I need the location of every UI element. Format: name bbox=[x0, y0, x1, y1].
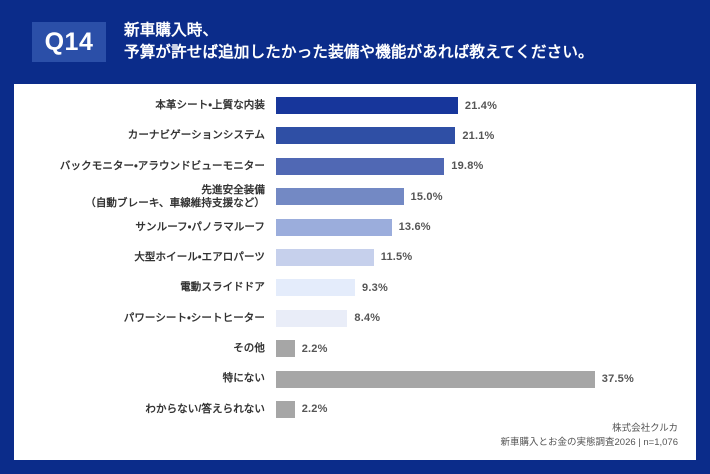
bar bbox=[276, 127, 455, 144]
bar-value-label: 8.4% bbox=[354, 312, 380, 324]
chart-row: カーナビゲーションシステム21.1% bbox=[14, 122, 696, 149]
category-label-line-1: 電動スライドドア bbox=[180, 281, 265, 293]
bar-track: 37.5% bbox=[276, 366, 696, 393]
category-label-line-1: カーナビゲーションシステム bbox=[128, 129, 265, 141]
footer-company: 株式会社クルカ bbox=[501, 422, 679, 436]
category-label: カーナビゲーションシステム bbox=[14, 129, 276, 142]
bar-value-label: 2.2% bbox=[302, 343, 328, 355]
category-label: 電動スライドドア bbox=[14, 281, 276, 294]
bar-value-label: 11.5% bbox=[381, 251, 413, 263]
category-label-line-1: 先進安全装備 bbox=[201, 184, 265, 196]
chart-row: 特にない37.5% bbox=[14, 366, 696, 393]
bar-track: 21.1% bbox=[276, 122, 696, 149]
bar bbox=[276, 188, 404, 205]
bar-value-label: 21.1% bbox=[462, 130, 494, 142]
chart-row: 大型ホイール・エアロパーツ11.5% bbox=[14, 244, 696, 271]
category-label-line-1: 大型ホイール・エアロパーツ bbox=[134, 251, 265, 263]
page-title: 新車購入時、 予算が許せば追加したかった装備や機能があれば教えてください。 bbox=[124, 20, 594, 65]
category-label: 先進安全装備（自動ブレーキ、車線維持支援など） bbox=[14, 184, 276, 210]
category-label-line-1: 特にない bbox=[223, 372, 265, 384]
category-label-line-1: 本革シート・上質な内装 bbox=[155, 99, 265, 111]
bar-value-label: 21.4% bbox=[465, 100, 497, 112]
chart-row: 本革シート・上質な内装21.4% bbox=[14, 92, 696, 119]
slide-root: Q14 新車購入時、 予算が許せば追加したかった装備や機能があれば教えてください… bbox=[0, 0, 710, 474]
bar bbox=[276, 219, 392, 236]
chart-footer: 株式会社クルカ 新車購入とお金の実態調査2026 | n=1,076 bbox=[501, 422, 679, 451]
bar bbox=[276, 97, 458, 114]
bar-value-label: 19.8% bbox=[451, 160, 483, 172]
bar bbox=[276, 249, 374, 266]
bar bbox=[276, 401, 295, 418]
chart-row: サンルーフ・パノラマルーフ13.6% bbox=[14, 214, 696, 241]
category-label-line-1: サンルーフ・パノラマルーフ bbox=[135, 221, 265, 233]
page-title-line-2: 予算が許せば追加したかった装備や機能があれば教えてください。 bbox=[124, 42, 594, 64]
bar bbox=[276, 310, 347, 327]
chart-row: 電動スライドドア9.3% bbox=[14, 274, 696, 301]
page-title-line-1: 新車購入時、 bbox=[124, 20, 594, 42]
slide-header: Q14 新車購入時、 予算が許せば追加したかった装備や機能があれば教えてください… bbox=[0, 0, 710, 84]
bar-track: 2.2% bbox=[276, 335, 696, 362]
chart-row: わからない/答えられない2.2% bbox=[14, 396, 696, 423]
category-label: 大型ホイール・エアロパーツ bbox=[14, 251, 276, 264]
category-label: わからない/答えられない bbox=[14, 403, 276, 416]
bar-track: 2.2% bbox=[276, 396, 696, 423]
category-label: サンルーフ・パノラマルーフ bbox=[14, 221, 276, 234]
category-label: 特にない bbox=[14, 372, 276, 385]
category-label: 本革シート・上質な内装 bbox=[14, 99, 276, 112]
category-label: パワーシート・シートヒーター bbox=[14, 312, 276, 325]
bar-track: 9.3% bbox=[276, 274, 696, 301]
bar-value-label: 13.6% bbox=[399, 221, 431, 233]
bar bbox=[276, 158, 444, 175]
category-label-line-1: バックモニター・アラウンドビューモニター bbox=[60, 160, 265, 172]
bar-value-label: 37.5% bbox=[602, 373, 634, 385]
question-number-badge: Q14 bbox=[32, 22, 106, 62]
bar bbox=[276, 340, 295, 357]
bar-value-label: 2.2% bbox=[302, 403, 328, 415]
footer-survey: 新車購入とお金の実態調査2026 | n=1,076 bbox=[501, 436, 679, 450]
chart-row: その他2.2% bbox=[14, 335, 696, 362]
chart-row: 先進安全装備（自動ブレーキ、車線維持支援など）15.0% bbox=[14, 183, 696, 210]
category-label-line-1: パワーシート・シートヒーター bbox=[124, 312, 265, 324]
category-label: バックモニター・アラウンドビューモニター bbox=[14, 160, 276, 173]
bar-track: 15.0% bbox=[276, 183, 696, 210]
bar-chart: 本革シート・上質な内装21.4%カーナビゲーションシステム21.1%バックモニタ… bbox=[14, 92, 696, 426]
bar-track: 11.5% bbox=[276, 244, 696, 271]
bar-track: 13.6% bbox=[276, 214, 696, 241]
category-label-line-1: その他 bbox=[233, 342, 265, 354]
chart-row: パワーシート・シートヒーター8.4% bbox=[14, 305, 696, 332]
bar-value-label: 9.3% bbox=[362, 282, 388, 294]
bar bbox=[276, 371, 595, 388]
chart-card: 本革シート・上質な内装21.4%カーナビゲーションシステム21.1%バックモニタ… bbox=[14, 84, 696, 460]
category-label: その他 bbox=[14, 342, 276, 355]
bar-track: 19.8% bbox=[276, 153, 696, 180]
category-label-line-1: わからない/答えられない bbox=[145, 403, 265, 415]
bar-track: 8.4% bbox=[276, 305, 696, 332]
bar bbox=[276, 279, 355, 296]
bar-value-label: 15.0% bbox=[411, 191, 443, 203]
category-label-line-2: （自動ブレーキ、車線維持支援など） bbox=[14, 197, 265, 210]
chart-row: バックモニター・アラウンドビューモニター19.8% bbox=[14, 153, 696, 180]
bar-track: 21.4% bbox=[276, 92, 696, 119]
